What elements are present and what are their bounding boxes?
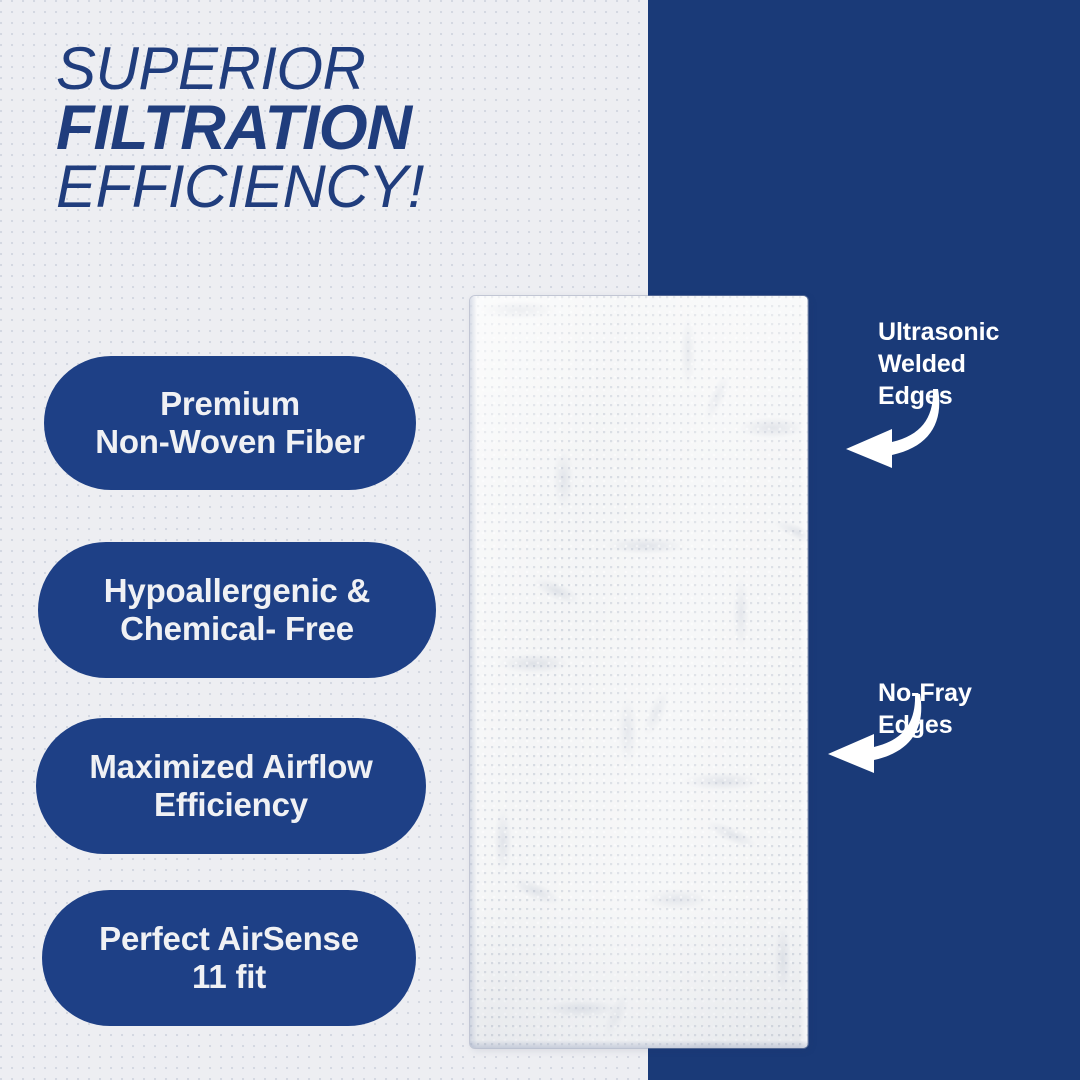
pad-bottom-edge [470,1040,808,1048]
feature-badge-label: Hypoallergenic & Chemical- Free [104,572,370,649]
feature-badge-label: Perfect AirSense 11 fit [99,920,359,997]
headline-line-2: FILTRATION [56,98,616,158]
product-image-filter-pad [470,296,808,1048]
curved-arrow-icon [812,690,932,780]
pad-sheen-overlay [470,296,808,1048]
promo-graphic: SUPERIOR FILTRATION EFFICIENCY! Premium … [0,0,1080,1080]
pad-left-edge [470,296,477,1048]
feature-badge-maximized-airflow-efficiency[interactable]: Maximized Airflow Efficiency [36,718,426,854]
headline-line-3: EFFICIENCY! [56,158,616,216]
feature-badge-hypoallergenic-chemical-free[interactable]: Hypoallergenic & Chemical- Free [38,542,436,678]
feature-badge-perfect-airsense-11-fit[interactable]: Perfect AirSense 11 fit [42,890,416,1026]
pad-right-welded-edge [799,296,808,1048]
feature-badge-label: Premium Non-Woven Fiber [95,385,365,462]
headline-line-1: SUPERIOR [56,40,616,98]
page-title: SUPERIOR FILTRATION EFFICIENCY! [56,40,616,216]
feature-badge-premium-non-woven-fiber[interactable]: Premium Non-Woven Fiber [44,356,416,490]
curved-arrow-icon [830,385,950,475]
feature-badge-label: Maximized Airflow Efficiency [89,748,372,825]
filter-pad [470,296,808,1048]
